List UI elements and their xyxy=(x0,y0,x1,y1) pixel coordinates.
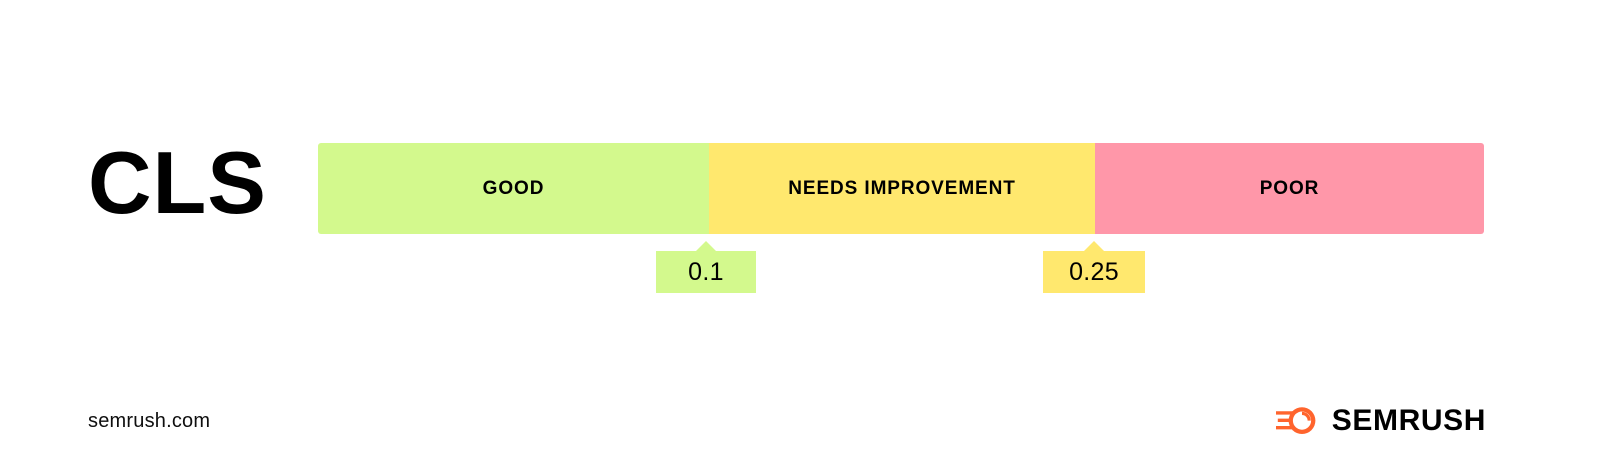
callout-pointer-icon xyxy=(695,241,717,252)
cls-scale-infographic: CLS GOOD NEEDS IMPROVEMENT POOR 0.1 0.25… xyxy=(0,0,1600,475)
semrush-logo: SEMRUSH xyxy=(1276,404,1486,438)
threshold-callout-high-value: 0.25 xyxy=(1069,258,1119,287)
scale-segment-needs-improvement: NEEDS IMPROVEMENT xyxy=(709,143,1095,234)
scale-segment-needs-improvement-label: NEEDS IMPROVEMENT xyxy=(788,178,1016,200)
semrush-comet-icon xyxy=(1276,404,1318,438)
callout-pointer-icon xyxy=(1083,241,1105,252)
semrush-wordmark: SEMRUSH xyxy=(1332,406,1486,436)
page-title: CLS xyxy=(88,133,288,233)
cls-threshold-bar: GOOD NEEDS IMPROVEMENT POOR xyxy=(318,143,1484,234)
threshold-callout-low: 0.1 xyxy=(656,251,756,293)
scale-segment-poor-label: POOR xyxy=(1260,178,1320,200)
scale-segment-good: GOOD xyxy=(318,143,709,234)
threshold-callout-high: 0.25 xyxy=(1043,251,1145,293)
scale-segment-poor: POOR xyxy=(1095,143,1484,234)
threshold-callout-low-value: 0.1 xyxy=(688,258,724,287)
scale-segment-good-label: GOOD xyxy=(483,178,545,200)
source-url: semrush.com xyxy=(88,410,210,433)
